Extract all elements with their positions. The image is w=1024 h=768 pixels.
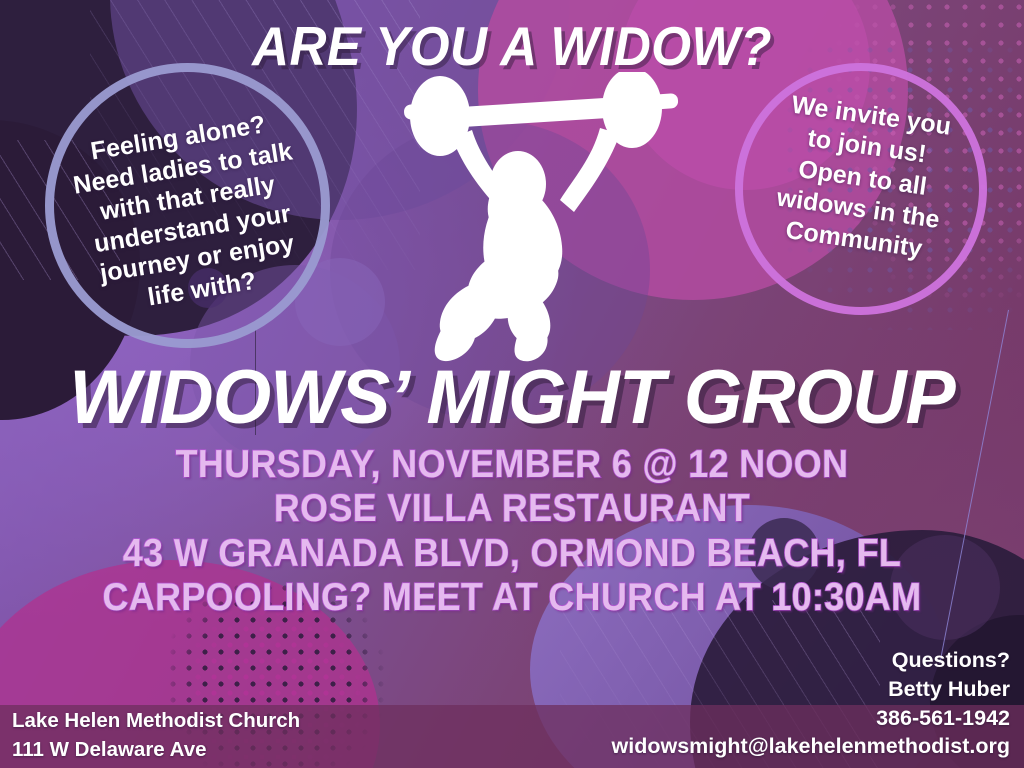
contact-name: Betty Huber [612, 675, 1010, 704]
contact-questions-label: Questions? [612, 646, 1010, 675]
detail-line-address: 43 W GRANADA BLVD, ORMOND BEACH, FL [41, 532, 983, 576]
church-name: Lake Helen Methodist Church [12, 706, 300, 735]
contact-block-left: Lake Helen Methodist Church 111 W Delawa… [12, 706, 300, 764]
group-title: WIDOWS’ MIGHT GROUP [5, 360, 1019, 436]
contact-email[interactable]: widowsmight@lakehelenmethodist.org [612, 732, 1010, 761]
weightlifter-silhouette-icon [392, 72, 688, 364]
poster-canvas: ARE YOU A WIDOW? [0, 0, 1024, 768]
contact-block-right: Questions? Betty Huber 386-561-1942 wido… [612, 646, 1010, 761]
detail-line-carpool: CARPOOLING? MEET AT CHURCH AT 10:30AM [41, 576, 983, 620]
event-details: THURSDAY, NOVEMBER 6 @ 12 NOON ROSE VILL… [0, 443, 1024, 621]
detail-line-datetime: THURSDAY, NOVEMBER 6 @ 12 NOON [41, 443, 983, 487]
detail-line-venue: ROSE VILLA RESTAURANT [41, 487, 983, 531]
church-address: 111 W Delaware Ave [12, 735, 300, 764]
contact-phone[interactable]: 386-561-1942 [612, 704, 1010, 733]
